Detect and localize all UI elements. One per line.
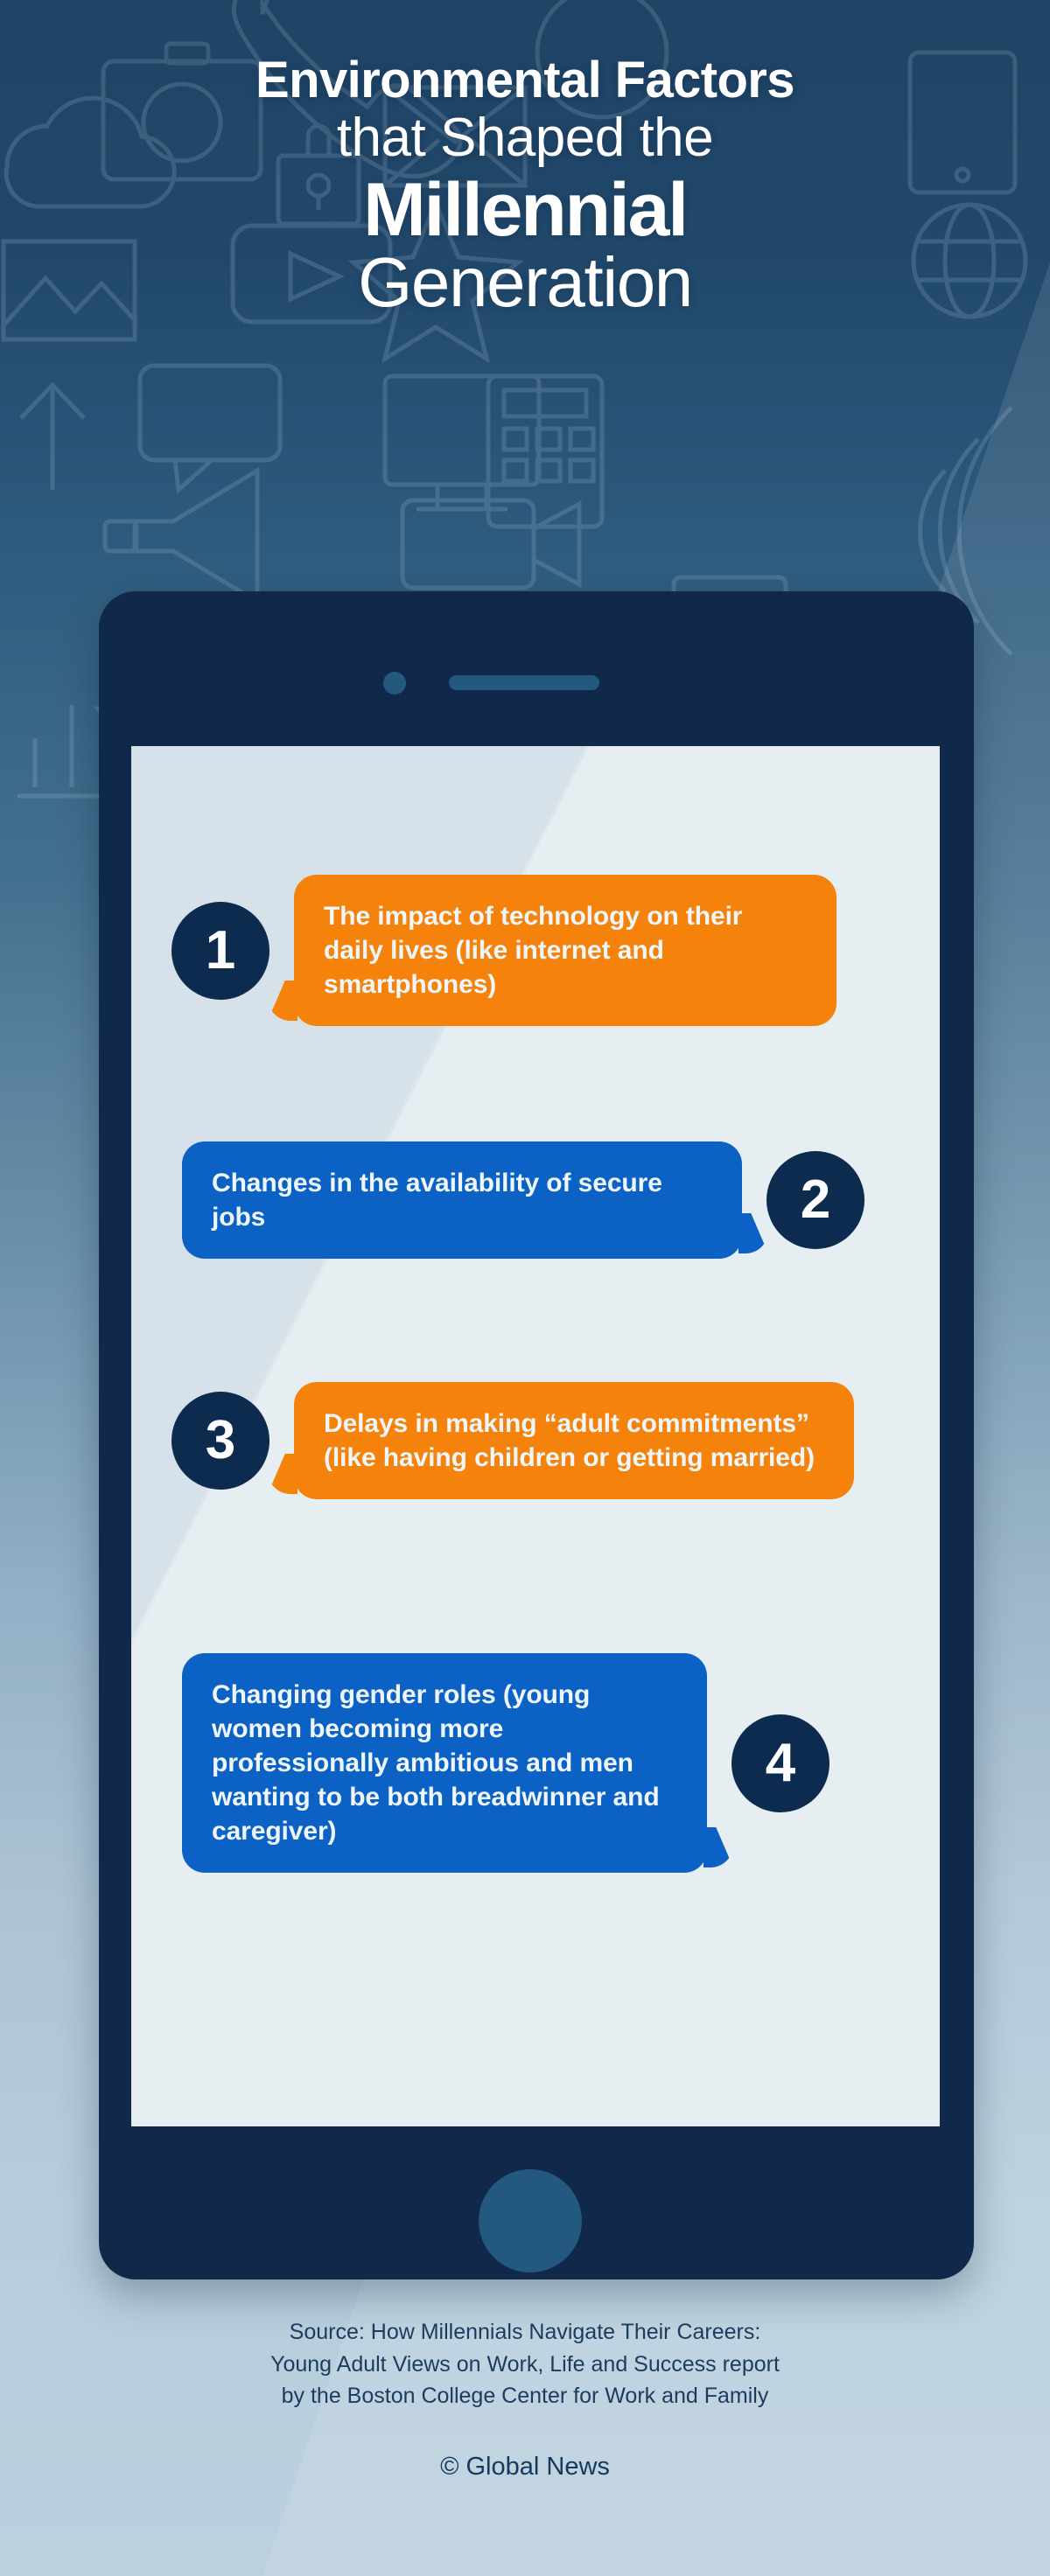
footer: Source: How Millennials Navigate Their C… [0, 2316, 1050, 2482]
page-title: Environmental Factors that Shaped the Mi… [0, 54, 1050, 318]
copyright-text: © Global News [0, 2453, 1050, 2482]
factor-number-badge-4: 4 [731, 1714, 829, 1812]
factor-row-4: Changing gender roles (young women becom… [182, 1653, 829, 1873]
source-line-1: Source: How Millennials Navigate Their C… [0, 2316, 1050, 2349]
keypad-icon [488, 376, 602, 527]
factor-bubble-4: Changing gender roles (young women becom… [182, 1653, 707, 1873]
video-camera-icon [402, 500, 579, 588]
title-line-1: Environmental Factors [0, 54, 1050, 107]
source-line-2: Young Adult Views on Work, Life and Succ… [0, 2349, 1050, 2381]
factor-bubble-2: Changes in the availability of secure jo… [182, 1141, 742, 1259]
title-line-3: Millennial [0, 172, 1050, 248]
title-line-2: that Shaped the [0, 108, 1050, 168]
factor-bubble-3: Delays in making “adult commitments” (li… [294, 1382, 854, 1499]
factor-row-1: 1 The impact of technology on their dail… [171, 875, 836, 1026]
source-line-3: by the Boston College Center for Work an… [0, 2380, 1050, 2412]
factor-row-3: 3 Delays in making “adult commitments” (… [171, 1382, 854, 1499]
camera-dot-icon [383, 672, 406, 695]
factor-row-2: Changes in the availability of secure jo… [182, 1141, 864, 1259]
infographic-poster: Environmental Factors that Shaped the Mi… [0, 0, 1050, 2576]
speech-bubble-icon [140, 366, 280, 490]
factor-number-badge-2: 2 [766, 1151, 864, 1249]
arrow-up-icon [21, 385, 84, 490]
factor-number-badge-3: 3 [171, 1392, 269, 1490]
speaker-bar-icon [449, 675, 599, 690]
megaphone-icon [105, 471, 257, 602]
factor-number-badge-1: 1 [171, 902, 269, 1000]
home-button-icon[interactable] [479, 2169, 582, 2272]
monitor-icon [385, 376, 539, 509]
title-line-4: Generation [0, 246, 1050, 318]
factor-bubble-1: The impact of technology on their daily … [294, 875, 836, 1026]
